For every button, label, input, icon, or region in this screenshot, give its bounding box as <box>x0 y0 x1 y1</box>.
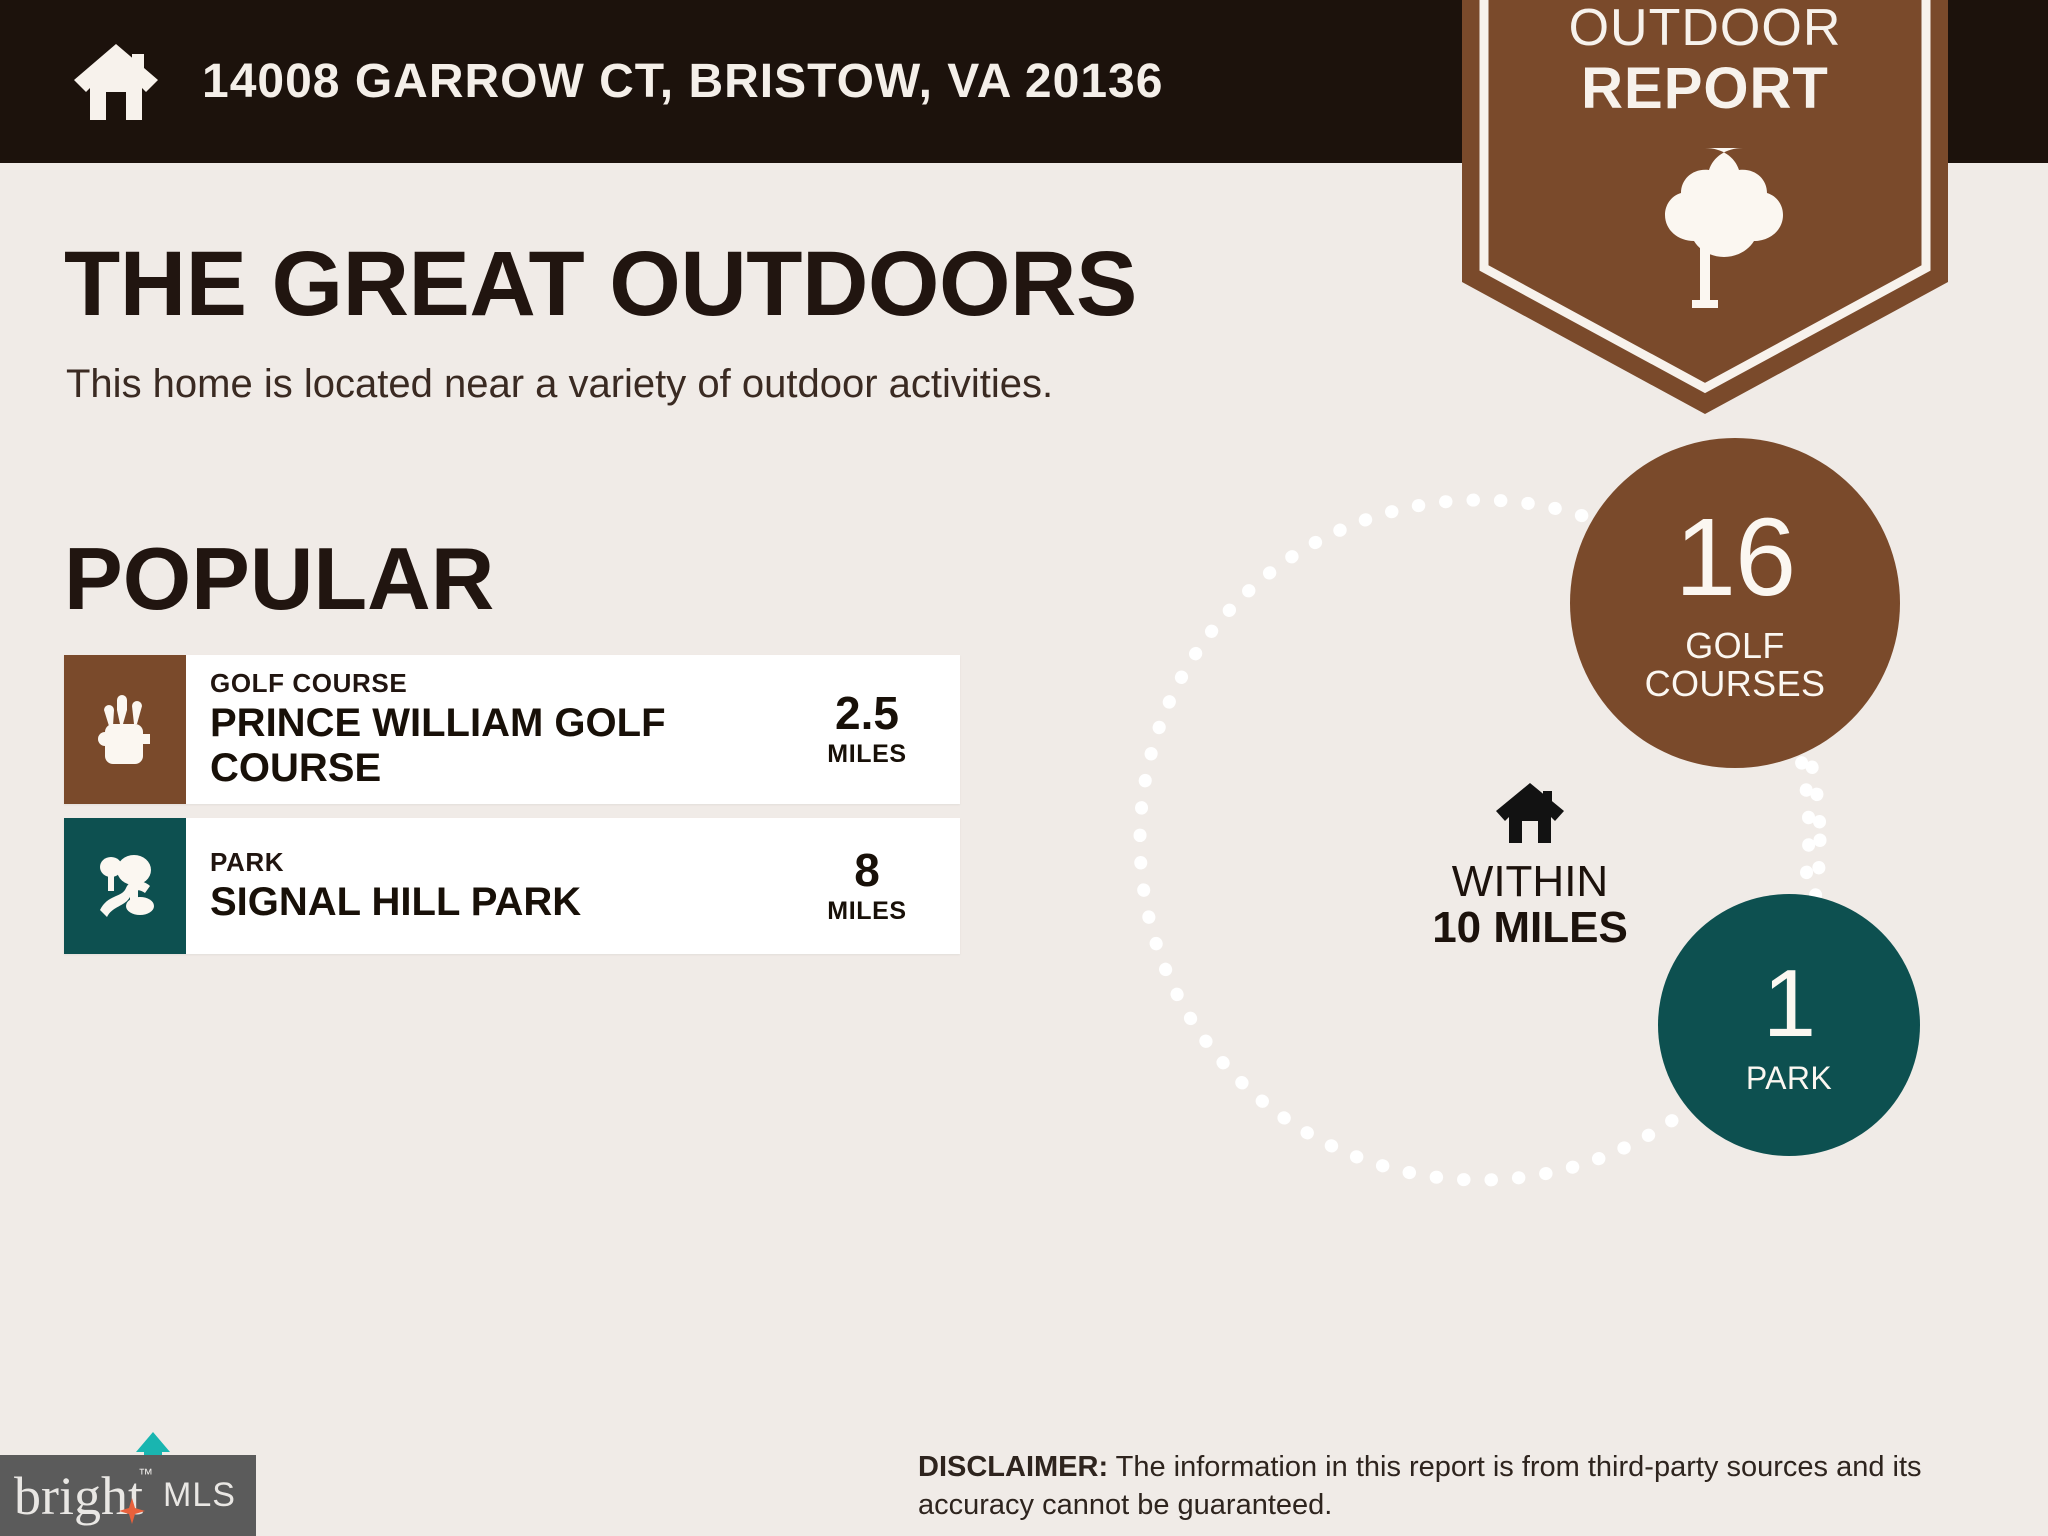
list-item-text: GOLF COURSE PRINCE WILLIAM GOLF COURSE <box>210 669 792 790</box>
list-item-category: GOLF COURSE <box>210 669 792 699</box>
page-title: THE GREAT OUTDOORS <box>64 232 1137 337</box>
list-item-distance-unit: MILES <box>792 897 942 926</box>
park-trees-icon <box>94 850 156 922</box>
disclaimer-label: DISCLAIMER: <box>918 1451 1108 1483</box>
list-item-icon-tile <box>64 655 186 804</box>
popular-list: GOLF COURSE PRINCE WILLIAM GOLF COURSE 2… <box>64 655 960 968</box>
list-item-distance: 2.5 MILES <box>792 690 960 769</box>
list-item-distance-value: 8 <box>792 847 942 893</box>
list-item-body: PARK SIGNAL HILL PARK 8 MILES <box>186 818 960 954</box>
stat-label: PARK <box>1746 1062 1832 1094</box>
stat-count: 1 <box>1763 956 1815 1052</box>
list-item-body: GOLF COURSE PRINCE WILLIAM GOLF COURSE 2… <box>186 655 960 804</box>
center-line2: 10 MILES <box>1400 905 1660 951</box>
list-item-name: SIGNAL HILL PARK <box>210 880 792 925</box>
property-address: 14008 GARROW CT, BRISTOW, VA 20136 <box>202 54 1163 109</box>
section-heading-popular: POPULAR <box>64 528 494 630</box>
stat-label-line2: COURSES <box>1645 665 1826 703</box>
stat-circle-golf-courses: 16 GOLF COURSES <box>1570 438 1900 768</box>
list-item[interactable]: PARK SIGNAL HILL PARK 8 MILES <box>64 818 960 954</box>
list-item-category: PARK <box>210 848 792 878</box>
golf-bag-icon <box>94 694 156 766</box>
brightmls-wordmark: bright ™ <box>14 1469 143 1523</box>
list-item-text: PARK SIGNAL HILL PARK <box>210 848 792 925</box>
disclaimer: DISCLAIMER: The information in this repo… <box>918 1448 1978 1525</box>
outdoor-report-page: 14008 GARROW CT, BRISTOW, VA 20136 OUTDO… <box>0 0 2048 1536</box>
stat-count: 16 <box>1675 503 1795 613</box>
list-item-name: PRINCE WILLIAM GOLF COURSE <box>210 701 792 791</box>
outdoor-report-badge: OUTDOOR REPORT <box>1462 0 1948 414</box>
list-item-distance: 8 MILES <box>792 847 960 926</box>
list-item-icon-tile <box>64 818 186 954</box>
brightmls-logo: bright ™ MLS <box>0 1455 256 1536</box>
trademark-symbol: ™ <box>138 1467 153 1482</box>
stat-label: GOLF COURSES <box>1645 627 1826 703</box>
brightmls-mls: MLS <box>163 1476 236 1515</box>
center-line1: WITHIN <box>1400 859 1660 905</box>
page-subtitle: This home is located near a variety of o… <box>66 362 1053 407</box>
list-item[interactable]: GOLF COURSE PRINCE WILLIAM GOLF COURSE 2… <box>64 655 960 804</box>
list-item-distance-value: 2.5 <box>792 690 942 736</box>
stat-label-line1: GOLF <box>1645 627 1826 665</box>
home-icon <box>1493 833 1567 850</box>
home-icon <box>70 40 162 124</box>
stat-circle-park: 1 PARK <box>1658 894 1920 1156</box>
list-item-distance-unit: MILES <box>792 740 942 769</box>
diagram-center: WITHIN 10 MILES <box>1400 780 1660 951</box>
